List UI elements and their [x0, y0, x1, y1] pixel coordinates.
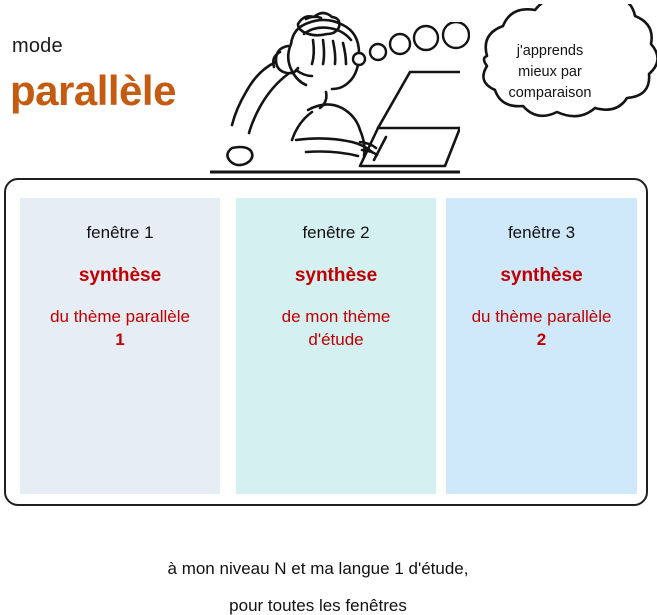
column-2-subtitle: de mon thème d'étude: [236, 306, 436, 352]
column-1-title: fenêtre 1: [20, 224, 220, 241]
column-1-sub-line-1: du thème parallèle: [50, 307, 190, 326]
column-1-sub-line-2: 1: [115, 330, 124, 349]
column-3-sub-line-2: 2: [537, 330, 546, 349]
thought-cloud-shape: [443, 4, 657, 140]
windows-board: fenêtre 1 synthèse du thème parallèle 1 …: [4, 178, 648, 506]
window-column-1[interactable]: fenêtre 1 synthèse du thème parallèle 1: [20, 198, 220, 494]
mode-label: mode: [12, 36, 63, 56]
window-column-3[interactable]: fenêtre 3 synthèse du thème parallèle 2: [446, 198, 637, 494]
header-banner: mode parallèle: [0, 0, 657, 178]
column-3-subtitle: du thème parallèle 2: [446, 306, 637, 352]
column-3-title: fenêtre 3: [446, 224, 637, 241]
column-3-synthese: synthèse: [446, 266, 637, 285]
thought-bubble: j'apprends mieux par comparaison: [443, 4, 657, 140]
column-3-sub-line-1: du thème parallèle: [472, 307, 612, 326]
columns-container: fenêtre 1 synthèse du thème parallèle 1 …: [20, 198, 637, 494]
column-1-subtitle: du thème parallèle 1: [20, 306, 220, 352]
board-footer-note: à mon niveau N et ma langue 1 d'étude, p…: [20, 560, 616, 614]
column-2-sub-line-2: d'étude: [308, 330, 363, 349]
window-column-2[interactable]: fenêtre 2 synthèse de mon thème d'étude: [236, 198, 436, 494]
column-2-title: fenêtre 2: [236, 224, 436, 241]
column-2-sub-line-1: de mon thème: [282, 307, 391, 326]
mode-title: parallèle: [10, 70, 176, 112]
column-2-synthese: synthèse: [236, 266, 436, 285]
column-1-synthese: synthèse: [20, 266, 220, 285]
footer-line-2: pour toutes les fenêtres: [20, 597, 616, 614]
footer-line-1: à mon niveau N et ma langue 1 d'étude,: [20, 560, 616, 577]
